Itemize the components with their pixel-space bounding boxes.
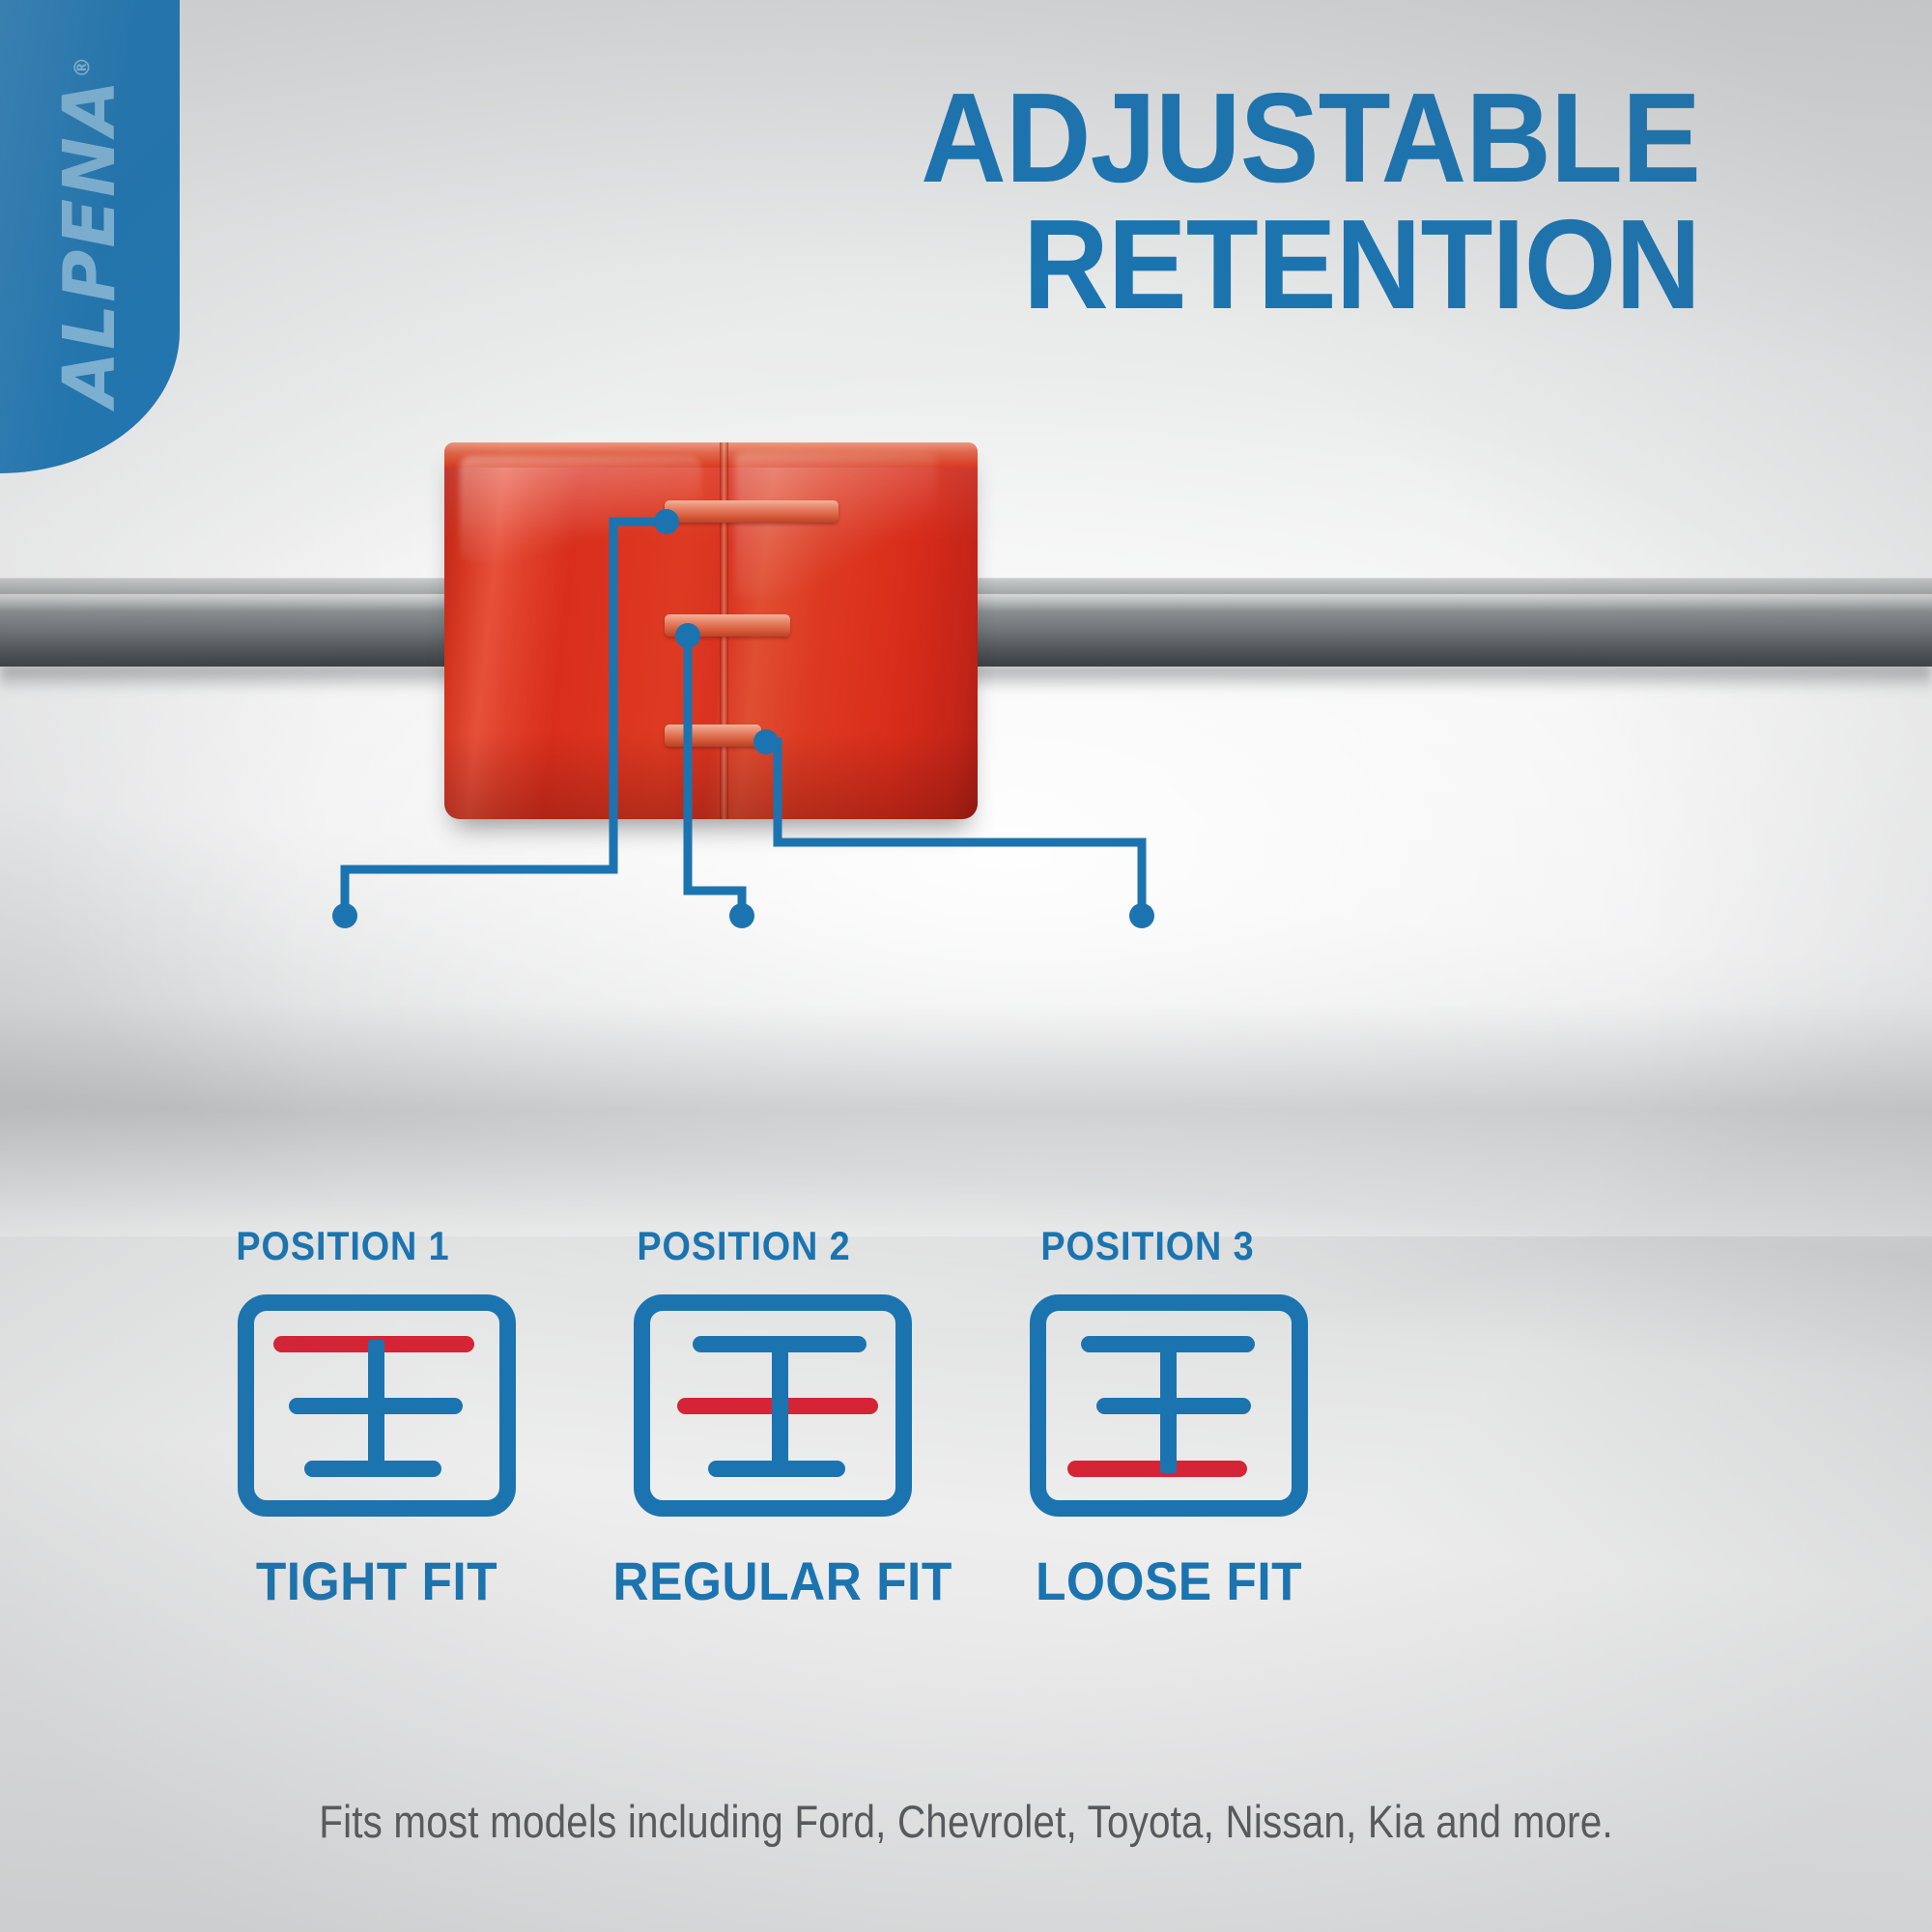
compatibility-note: Fits most models including Ford, Chevrol… xyxy=(135,1795,1797,1848)
clip-highlight-right xyxy=(734,452,937,597)
infographic-canvas: ALPENA® ADJUSTABLE RETENTION xyxy=(0,0,1932,1932)
fit-label-regular: REGULAR FIT xyxy=(612,1549,932,1612)
fit-card-loose: LOOSE FIT xyxy=(995,1294,1343,1612)
page-title: ADJUSTABLE RETENTION xyxy=(532,75,1700,327)
icon-stem xyxy=(1160,1340,1177,1473)
position-label-2: POSITION 2 xyxy=(596,1223,892,1269)
product-illustration xyxy=(0,425,1932,840)
brand-banner: ALPENA® xyxy=(0,0,180,473)
fit-label-tight: TIGHT FIT xyxy=(216,1549,536,1612)
leader-end-dot-3 xyxy=(1129,903,1154,928)
icon-bar-bottom-highlighted xyxy=(1067,1461,1247,1477)
page-title-line-1: ADJUSTABLE xyxy=(921,67,1700,209)
slot-ridge-1 xyxy=(665,500,838,523)
clip-position-icon-regular xyxy=(634,1294,912,1517)
fit-card-regular: REGULAR FIT xyxy=(599,1294,947,1612)
slot-ridge-2 xyxy=(665,614,790,637)
fit-cards-row: TIGHT FIT REGULAR FIT LOOSE FIT xyxy=(0,1294,1932,1700)
leader-end-dot-1 xyxy=(332,903,357,928)
clip-bottom-shade xyxy=(444,732,978,819)
position-label-3: POSITION 3 xyxy=(1000,1223,1295,1269)
page-title-line-2: RETENTION xyxy=(532,202,1700,328)
brand-wordmark: ALPENA® xyxy=(54,57,126,407)
red-retention-clip xyxy=(444,442,978,819)
icon-stem xyxy=(368,1340,384,1473)
fit-label-loose: LOOSE FIT xyxy=(1009,1549,1328,1612)
brand-wordmark-text: ALPENA xyxy=(48,78,131,407)
clip-position-icon-tight xyxy=(238,1294,516,1517)
fit-card-tight: TIGHT FIT xyxy=(203,1294,551,1612)
background-floor-band xyxy=(0,1005,1932,1236)
position-label-1: POSITION 1 xyxy=(195,1223,491,1269)
icon-stem xyxy=(772,1340,788,1473)
leader-end-dot-2 xyxy=(729,903,754,928)
registered-trademark-icon: ® xyxy=(71,57,95,78)
clip-position-icon-loose xyxy=(1030,1294,1308,1517)
